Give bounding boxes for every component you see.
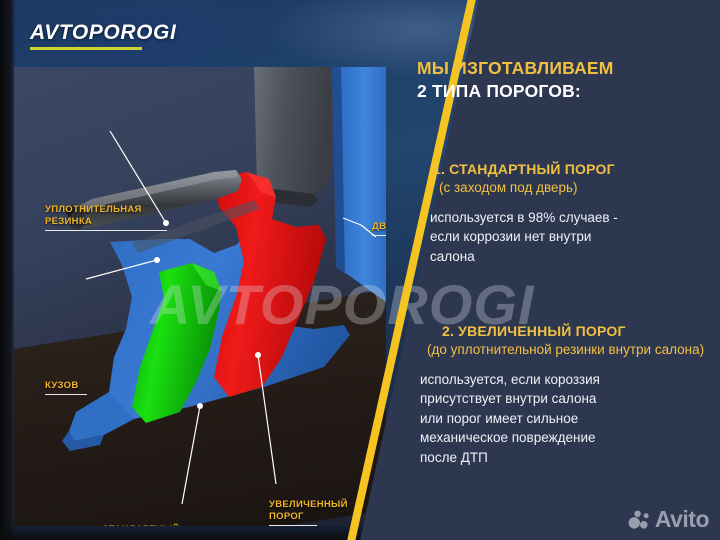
avito-dots-icon <box>628 510 651 530</box>
brand-logo-underline <box>30 47 142 50</box>
sill-type-1-title: 1. СТАНДАРТНЫЙ ПОРОГ <box>433 160 709 178</box>
panel-heading-line2: 2 ТИПА ПОРОГОВ: <box>417 80 717 103</box>
callout-standard-sill: СТАНДАРТНЫЙ ПОРОГ <box>102 512 179 526</box>
callout-door-rule <box>372 235 386 237</box>
sill-cross-section-illustration <box>14 67 386 526</box>
sill-type-1-body: используется в 98% случаев - если корроз… <box>430 208 709 267</box>
panel-heading: МЫ ИЗГОТАВЛИВАЕМ 2 ТИПА ПОРОГОВ: <box>417 57 717 103</box>
brand-logo-text: AVTOPOROGI <box>30 22 176 43</box>
screenshot-root: AVTOPOROGI <box>0 0 720 540</box>
sill-type-block-2: 2. УВЕЛИЧЕННЫЙ ПОРОГ (до уплотнительной … <box>417 322 709 468</box>
callout-body: КУЗОВ <box>45 368 87 407</box>
sill-type-2-subtitle: (до уплотнительной резинки внутри салона… <box>427 341 709 359</box>
sill-diagram: УПЛОТНИТЕЛЬНАЯ РЕЗИНКА КУЗОВ ДВЕРЬ СТАНД… <box>14 67 386 526</box>
left-dark-edge <box>0 0 15 540</box>
avito-logo: Avito <box>628 508 709 531</box>
brand-logo: AVTOPOROGI <box>30 22 176 50</box>
panel-heading-line1: МЫ ИЗГОТАВЛИВАЕМ <box>417 57 717 80</box>
callout-body-label: КУЗОВ <box>45 380 79 391</box>
callout-seal: УПЛОТНИТЕЛЬНАЯ РЕЗИНКА <box>45 192 167 243</box>
callout-body-rule <box>45 394 87 396</box>
callout-extended-sill-label: УВЕЛИЧЕННЫЙ ПОРОГ <box>269 499 348 522</box>
sill-type-2-title: 2. УВЕЛИЧЕННЫЙ ПОРОГ <box>442 322 709 340</box>
callout-door: ДВЕРЬ <box>372 209 386 248</box>
callout-standard-sill-label: СТАНДАРТНЫЙ ПОРОГ <box>102 524 179 526</box>
bottom-dark-edge <box>0 526 400 540</box>
callout-extended-sill-rule <box>269 525 317 526</box>
callout-door-label: ДВЕРЬ <box>372 221 386 232</box>
sill-type-block-1: 1. СТАНДАРТНЫЙ ПОРОГ (с заходом под двер… <box>417 160 709 266</box>
avito-wordmark: Avito <box>655 508 709 531</box>
info-panel: МЫ ИЗГОТАВЛИВАЕМ 2 ТИПА ПОРОГОВ: 1. СТАН… <box>410 0 710 540</box>
callout-seal-label: УПЛОТНИТЕЛЬНАЯ РЕЗИНКА <box>45 204 142 227</box>
sill-type-2-body: используется, если короззия присутствует… <box>420 370 709 468</box>
sill-type-1-subtitle: (с заходом под дверь) <box>439 179 709 197</box>
callout-seal-rule <box>45 230 167 232</box>
callout-extended-sill: УВЕЛИЧЕННЫЙ ПОРОГ <box>269 487 348 526</box>
